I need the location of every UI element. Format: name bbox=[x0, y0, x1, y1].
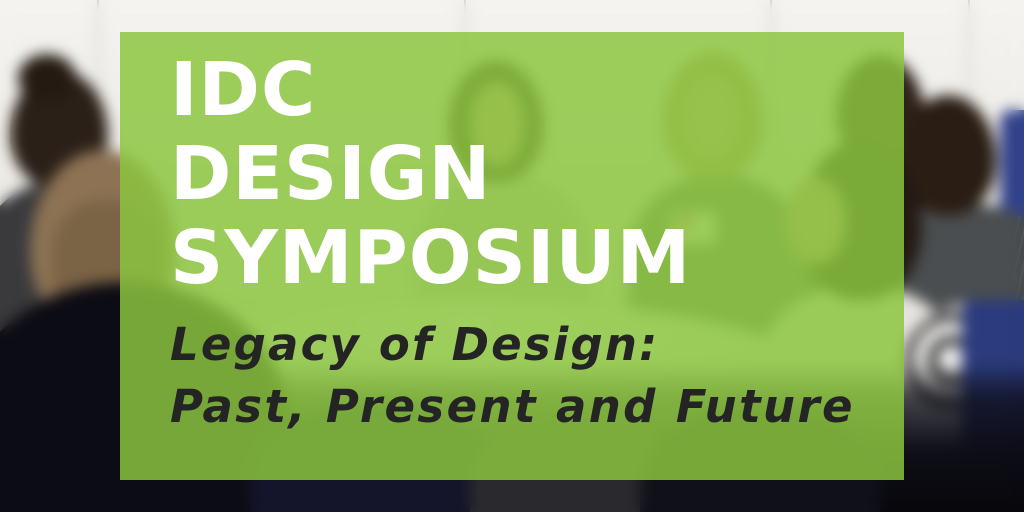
event-banner: IDC DESIGN SYMPOSIUM Legacy of Design: P… bbox=[0, 0, 1024, 512]
headline-line-3: SYMPOSIUM bbox=[170, 216, 910, 300]
banner-text-block: IDC DESIGN SYMPOSIUM Legacy of Design: P… bbox=[170, 48, 910, 438]
subtitle-line-1: Legacy of Design: bbox=[170, 314, 910, 376]
headline-line-2: DESIGN bbox=[170, 132, 910, 216]
subtitle-group: Legacy of Design: Past, Present and Futu… bbox=[170, 314, 910, 438]
headline-line-1: IDC bbox=[170, 48, 910, 132]
subtitle-line-2: Past, Present and Future bbox=[170, 376, 910, 438]
